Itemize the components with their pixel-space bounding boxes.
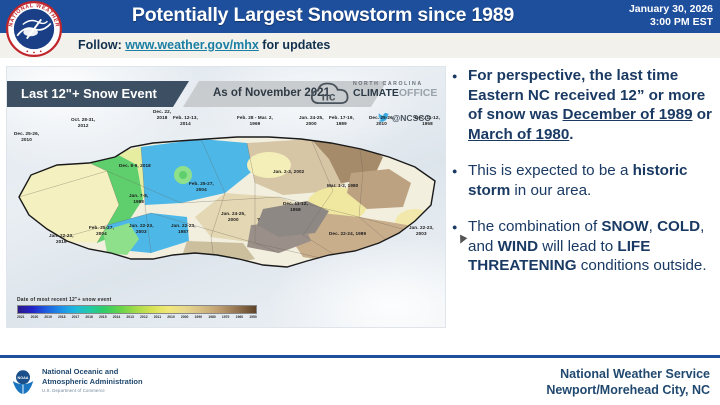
- nws-seal-icon: NATIONAL WEATHER SERVICE: [6, 1, 62, 57]
- ncco-name-line: CLIMATEOFFICE: [353, 87, 437, 99]
- bullet-text: For perspective, the last time Eastern N…: [468, 66, 714, 144]
- map-event-label-line: 1989: [329, 121, 354, 127]
- map-event-label-line: 2003: [129, 229, 154, 235]
- map-event-label-line: Feb. 28 - Mar. 2,: [237, 115, 273, 121]
- office-name: National Weather Service: [546, 366, 710, 382]
- map-event-label: Jan. 7-8,1988: [129, 193, 148, 204]
- header-time: 3:00 PM EST: [629, 16, 713, 29]
- map-event-label: Dec. 25-26,2010: [369, 115, 394, 126]
- legend-tick: 2019: [44, 315, 52, 319]
- map-event-label-line: Feb. 17-19,: [329, 115, 354, 121]
- map-event-label: Feb. 12-13,2014: [173, 115, 198, 126]
- legend-tick: 1950: [249, 315, 257, 319]
- bullet-dot-icon: ●: [452, 161, 468, 200]
- map-event-label: Dec. 11-12,1958: [415, 115, 440, 126]
- map-event-label: Jan. 2-3, 2002: [273, 169, 304, 175]
- legend-tick: 2017: [72, 315, 80, 319]
- map-event-label-line: Jan. 24-25,: [221, 211, 246, 217]
- legend-tick: 2018: [58, 315, 66, 319]
- map-event-label-line: 2012: [71, 123, 95, 129]
- snow-event-map: Last 12"+ Snow Event As of November 2021…: [6, 66, 446, 328]
- bullet-segment: This is expected to be a: [468, 162, 633, 179]
- issuing-office: National Weather Service Newport/Morehea…: [546, 366, 710, 398]
- page-title: Potentially Largest Snowstorm since 1989: [78, 4, 568, 27]
- map-event-label-line: Dec. 25-26,: [14, 131, 39, 137]
- legend-tick: 1970: [222, 315, 230, 319]
- map-event-label: Jan. 22-23,2003: [409, 225, 434, 236]
- header-date: January 30, 2026: [629, 3, 713, 16]
- nc-climate-office-logo: nc NORTH CAROLINA CLIMATEOFFICE @NCSCO: [309, 79, 439, 115]
- bullet-list: ●For perspective, the last time Eastern …: [452, 66, 714, 293]
- map-event-label-line: Feb. 12-13,: [173, 115, 198, 121]
- map-event-label-line: Dec. 22,: [153, 109, 171, 115]
- map-event-label-line: Dec. 22-24, 1989: [329, 231, 366, 237]
- map-event-label-line: 2016: [49, 239, 74, 245]
- legend-tick-labels: 2021202020192018201720162015201420132012…: [17, 315, 257, 319]
- legend-tick: 2016: [85, 315, 93, 319]
- subheader-bar: Follow: www.weather.gov/mhx for updates: [0, 33, 720, 58]
- ncco-wordmark: NORTH CAROLINA CLIMATEOFFICE: [353, 81, 437, 99]
- noaa-line-1: National Oceanic and: [42, 367, 143, 377]
- map-event-label: Jan. 22-23,2016: [49, 233, 74, 244]
- map-event-label-line: 2000: [221, 217, 246, 223]
- bullet-dot-icon: ●: [452, 217, 468, 276]
- legend-colorbar: [17, 305, 257, 314]
- map-event-label-line: 2018: [153, 115, 171, 121]
- bullet-segment: ,: [649, 218, 657, 235]
- map-event-label-line: Dec. 11-12,: [283, 201, 308, 207]
- slide-header: Potentially Largest Snowstorm since 1989…: [0, 0, 720, 33]
- map-event-label: Jan. 22-23,1987: [171, 223, 196, 234]
- bullet-segment: will lead to: [538, 238, 617, 255]
- noaa-logo-icon: NOAA: [9, 367, 37, 395]
- bullet-item: ●This is expected to be a historic storm…: [452, 161, 714, 200]
- map-event-label: Oct. 28-31,2012: [71, 117, 95, 128]
- map-event-label-line: 1958: [415, 121, 440, 127]
- map-event-label-line: 2003: [409, 231, 434, 237]
- noaa-line-2: Atmospheric Administration: [42, 377, 143, 387]
- bullet-segment: .: [569, 126, 573, 143]
- slide-root: Potentially Largest Snowstorm since 1989…: [0, 0, 720, 405]
- ncco-climate-word: CLIMATE: [353, 87, 399, 99]
- bullet-dot-icon: ●: [452, 66, 468, 144]
- legend-tick: 2000: [181, 315, 189, 319]
- map-event-label-line: 2010: [14, 137, 39, 143]
- bullet-segment: conditions outside.: [577, 257, 707, 274]
- ncco-cloud-icon: nc: [309, 79, 351, 109]
- map-event-label: Jan. 24-25,2000: [299, 115, 324, 126]
- map-event-label-line: Dec. 8-9, 2018: [119, 163, 151, 169]
- map-event-label: Jan. 24-25,2000: [221, 211, 246, 222]
- bullet-text: This is expected to be a historic storm …: [468, 161, 714, 200]
- map-event-label: ?: [257, 217, 260, 223]
- legend-tick: 1960: [236, 315, 244, 319]
- map-event-label-line: 2010: [369, 121, 394, 127]
- map-event-label-line: 2000: [299, 121, 324, 127]
- legend-title: Date of most recent 12"+ snow event: [17, 297, 263, 303]
- noaa-wordmark: National Oceanic and Atmospheric Adminis…: [42, 367, 143, 393]
- legend-tick: 2011: [154, 315, 161, 319]
- ncco-office-word: OFFICE: [399, 87, 438, 99]
- legend-tick: 2015: [99, 315, 107, 319]
- map-event-label: Mar. 1-2, 1980: [327, 183, 358, 189]
- map-event-label-line: Jan. 22-23,: [409, 225, 434, 231]
- weather-gov-link[interactable]: www.weather.gov/mhx: [125, 38, 259, 52]
- map-event-label-line: Jan. 7-8,: [129, 193, 148, 199]
- bullet-segment: December of 1989: [563, 106, 693, 123]
- map-event-label: Feb. 25-27,2004: [89, 225, 114, 236]
- map-event-label-line: Oct. 28-31,: [71, 117, 95, 123]
- bullet-item: ●The combination of SNOW, COLD, and WIND…: [452, 217, 714, 276]
- map-event-label-line: 1987: [171, 229, 196, 235]
- bullet-segment: SNOW: [601, 218, 648, 235]
- map-event-label: Feb. 25-27,2004: [189, 181, 214, 192]
- bullet-segment: The combination of: [468, 218, 601, 235]
- noaa-line-3: U.S. Department of Commerce: [42, 388, 143, 393]
- legend-tick: 2014: [113, 315, 121, 319]
- bullet-segment: in our area.: [510, 182, 591, 199]
- map-event-label-line: 1958: [283, 207, 308, 213]
- legend-tick: 1990: [195, 315, 203, 319]
- map-event-label-line: Dec. 25-26,: [369, 115, 394, 121]
- map-event-label: Dec. 8-9, 2018: [119, 163, 151, 169]
- map-event-label: Dec. 22-24, 1989: [329, 231, 366, 237]
- map-label-layer: Dec. 25-26,2010Oct. 28-31,2012Dec. 22,20…: [11, 113, 443, 288]
- legend-tick: 2013: [126, 315, 134, 319]
- follow-line: Follow: www.weather.gov/mhx for updates: [78, 38, 330, 52]
- map-event-label: Feb. 17-19,1989: [329, 115, 354, 126]
- svg-text:NOAA: NOAA: [18, 376, 29, 380]
- legend-tick: 2010: [167, 315, 175, 319]
- map-legend: Date of most recent 12"+ snow event 2021…: [17, 297, 263, 319]
- header-datetime: January 30, 2026 3:00 PM EST: [629, 3, 713, 29]
- follow-suffix: for updates: [259, 38, 331, 52]
- map-event-label-line: Jan. 22-23,: [171, 223, 196, 229]
- map-event-label-line: 1988: [129, 199, 148, 205]
- map-event-label-line: Dec. 11-12,: [415, 115, 440, 121]
- bullet-segment: WIND: [498, 238, 539, 255]
- office-location: Newport/Morehead City, NC: [546, 382, 710, 398]
- bullet-segment: or: [693, 106, 712, 123]
- map-event-label-line: 1969: [237, 121, 273, 127]
- map-event-label-line: Jan. 24-25,: [299, 115, 324, 121]
- map-event-label-line: Feb. 25-27,: [89, 225, 114, 231]
- bullet-item: ●For perspective, the last time Eastern …: [452, 66, 714, 144]
- slide-footer: NOAA National Oceanic and Atmospheric Ad…: [0, 358, 720, 405]
- legend-tick: 2020: [31, 315, 39, 319]
- legend-tick: 2021: [17, 315, 25, 319]
- map-event-label-line: Jan. 2-3, 2002: [273, 169, 304, 175]
- map-event-label: Feb. 28 - Mar. 2,1969: [237, 115, 273, 126]
- map-event-label: Dec. 22,2018: [153, 109, 171, 120]
- svg-text:nc: nc: [322, 89, 336, 103]
- map-event-label-line: ?: [257, 217, 260, 223]
- map-event-label-line: 2004: [89, 231, 114, 237]
- map-event-label: Dec. 25-26,2010: [14, 131, 39, 142]
- slide-body: Last 12"+ Snow Event As of November 2021…: [0, 58, 720, 355]
- map-event-label-line: Mar. 1-2, 1980: [327, 183, 358, 189]
- bullet-text: The combination of SNOW, COLD, and WIND …: [468, 217, 714, 276]
- map-event-label-line: Jan. 22-23,: [49, 233, 74, 239]
- bullet-segment: COLD: [657, 218, 700, 235]
- legend-tick: 1980: [208, 315, 216, 319]
- map-event-label: Dec. 11-12,1958: [283, 201, 308, 212]
- map-event-label-line: 2004: [189, 187, 214, 193]
- map-event-label-line: Feb. 25-27,: [189, 181, 214, 187]
- follow-prefix: Follow:: [78, 38, 125, 52]
- map-event-label: Jan. 22-23,2003: [129, 223, 154, 234]
- legend-tick: 2012: [140, 315, 148, 319]
- map-event-label-line: 2014: [173, 121, 198, 127]
- bullet-segment: March of 1980: [468, 126, 569, 143]
- map-event-label-line: Jan. 22-23,: [129, 223, 154, 229]
- map-banner-left-label: Last 12"+ Snow Event: [21, 86, 157, 101]
